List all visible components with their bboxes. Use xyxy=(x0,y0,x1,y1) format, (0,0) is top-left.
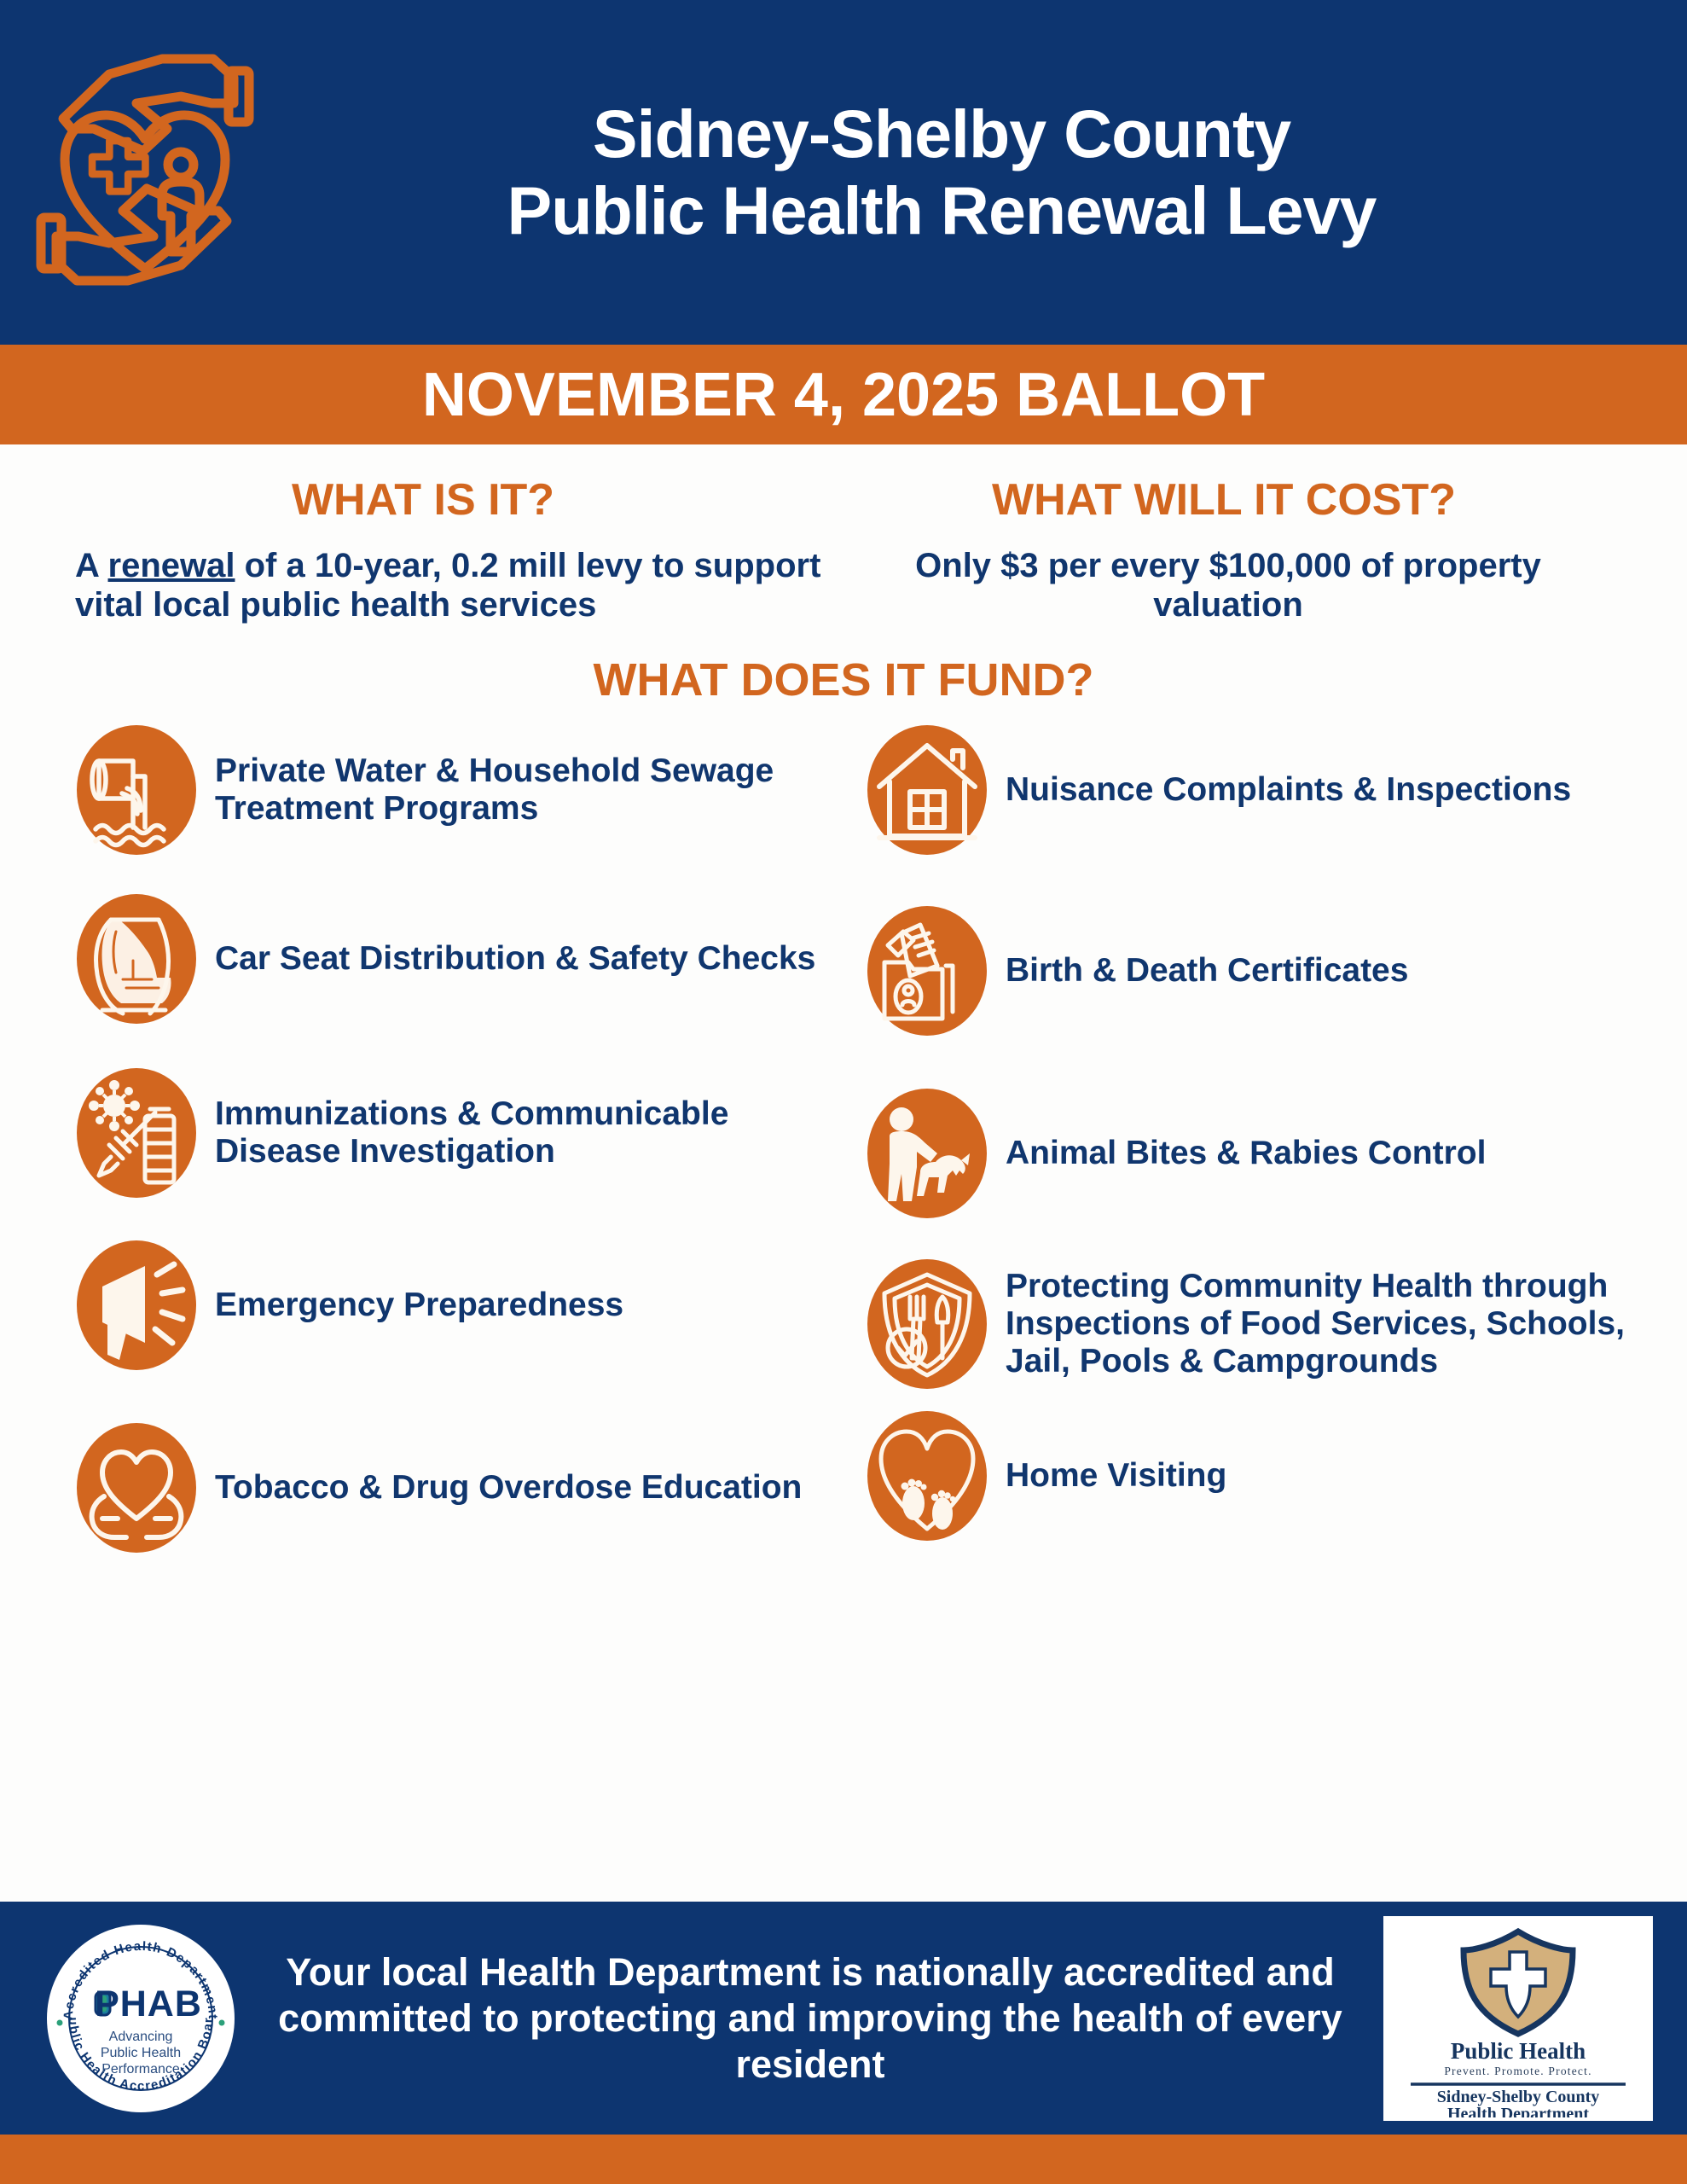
list-item-label: Car Seat Distribution & Safety Checks xyxy=(200,940,815,978)
shield-fork-knife-check-icon xyxy=(864,1259,990,1389)
question-answer-section: WHAT IS IT? A renewal of a 10-year, 0.2 … xyxy=(0,444,1687,624)
list-item: Home Visiting xyxy=(864,1411,1687,1541)
phab-tagline-line3: Performance xyxy=(101,2062,180,2077)
phab-tagline-line1: Advancing xyxy=(109,2030,173,2044)
footer-message: Your local Health Department is national… xyxy=(237,1949,1383,2088)
list-item: Car Seat Distribution & Safety Checks xyxy=(73,894,843,1024)
list-item: Birth & Death Certificates xyxy=(864,906,1687,1036)
list-item: Private Water & Household Sewage Treatme… xyxy=(73,725,843,855)
phab-acronym: PHAB xyxy=(95,1984,202,2024)
list-item: Animal Bites & Rabies Control xyxy=(864,1089,1687,1218)
what-is-it-body-before: A xyxy=(75,547,108,584)
file-folder-documents-icon xyxy=(864,906,990,1036)
list-item-label: Emergency Preparedness xyxy=(200,1287,623,1324)
list-item: Protecting Community Health through Insp… xyxy=(864,1259,1687,1389)
person-with-dog-icon xyxy=(864,1089,990,1218)
list-item-label: Protecting Community Health through Insp… xyxy=(990,1268,1687,1380)
header-title-group: Sidney-Shelby County Public Health Renew… xyxy=(256,96,1687,249)
list-item: Tobacco & Drug Overdose Education xyxy=(73,1423,843,1553)
header-banner: Sidney-Shelby County Public Health Renew… xyxy=(0,0,1687,345)
ballot-date-text: NOVEMBER 4, 2025 BALLOT xyxy=(422,364,1265,426)
footer-orange-strip xyxy=(0,2135,1687,2184)
water-pipe-discharge-icon xyxy=(73,725,200,855)
what-will-it-cost-body: Only $3 per every $100,000 of property v… xyxy=(889,546,1687,625)
list-item-label: Home Visiting xyxy=(990,1457,1226,1495)
list-item-label: Tobacco & Drug Overdose Education xyxy=(200,1469,802,1507)
shield-cross-logo-icon: Public Health Prevent. Promote. Protect.… xyxy=(1383,1916,1653,2121)
what-is-it-body-underlined: renewal xyxy=(108,547,235,584)
hands-heart-health-icon xyxy=(34,40,256,296)
footer-navy-bar: Accredited Health Department Public Heal… xyxy=(0,1902,1687,2135)
list-item: Nuisance Complaints & Inspections xyxy=(864,725,1687,855)
list-item: Emergency Preparedness xyxy=(73,1240,843,1370)
phab-accreditation-seal-icon: Accredited Health Department Public Heal… xyxy=(44,1922,237,2115)
list-item-label: Nuisance Complaints & Inspections xyxy=(990,771,1571,809)
what-is-it-body: A renewal of a 10-year, 0.2 mill levy to… xyxy=(75,546,873,625)
megaphone-icon xyxy=(73,1240,200,1370)
ballot-date-banner: NOVEMBER 4, 2025 BALLOT xyxy=(0,345,1687,444)
house-icon xyxy=(864,725,990,855)
hands-heart-icon xyxy=(73,1423,200,1553)
list-item-label: Animal Bites & Rabies Control xyxy=(990,1135,1486,1172)
list-item-label: Birth & Death Certificates xyxy=(990,952,1408,990)
phab-tagline-line2: Public Health xyxy=(101,2046,181,2060)
page-title-line-1: Sidney-Shelby County xyxy=(593,96,1290,172)
what-is-it-heading: WHAT IS IT? xyxy=(75,477,873,524)
heart-baby-footprints-icon xyxy=(864,1411,990,1541)
what-does-it-fund-heading: WHAT DOES IT FUND? xyxy=(0,653,1687,706)
what-is-it-block: WHAT IS IT? A renewal of a 10-year, 0.2 … xyxy=(0,477,873,624)
logo-org-line1: Sidney-Shelby County xyxy=(1437,2088,1600,2106)
funded-services-right-column: Nuisance Complaints & Inspections xyxy=(843,722,1687,1575)
list-item-label: Immunizations & Communicable Disease Inv… xyxy=(200,1095,843,1170)
list-item-label: Private Water & Household Sewage Treatme… xyxy=(200,752,843,828)
funded-services-left-column: Private Water & Household Sewage Treatme… xyxy=(0,722,843,1575)
syringe-virus-icon xyxy=(73,1068,200,1198)
page-title-line-2: Public Health Renewal Levy xyxy=(507,172,1377,249)
what-will-it-cost-heading: WHAT WILL IT COST? xyxy=(889,477,1687,524)
car-seat-icon xyxy=(73,894,200,1024)
logo-org-line2: Health Department xyxy=(1447,2105,1589,2117)
logo-tagline: Prevent. Promote. Protect. xyxy=(1444,2065,1591,2077)
what-will-it-cost-block: WHAT WILL IT COST? Only $3 per every $10… xyxy=(873,477,1687,624)
logo-title: Public Health xyxy=(1451,2038,1586,2064)
list-item: Immunizations & Communicable Disease Inv… xyxy=(73,1068,843,1198)
footer: Accredited Health Department Public Heal… xyxy=(0,1902,1687,2184)
funded-services-grid: Private Water & Household Sewage Treatme… xyxy=(0,722,1687,1575)
